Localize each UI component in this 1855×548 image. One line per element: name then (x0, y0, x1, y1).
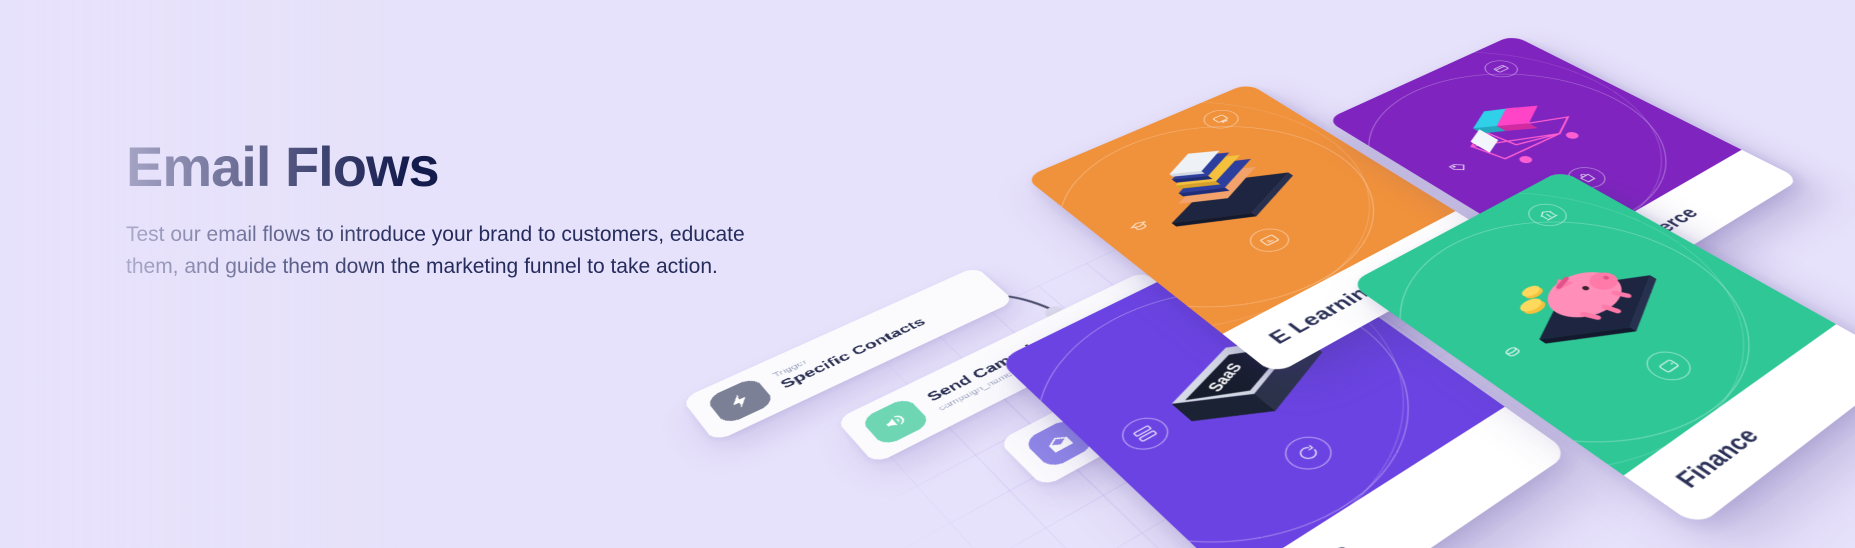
wallet-icon (1638, 346, 1700, 386)
lightning-bolt-icon (705, 377, 776, 426)
card-label: Finance (1669, 424, 1766, 494)
card-footer: Finance (1624, 324, 1855, 527)
hero-copy: Email Flows Test our email flows to intr… (126, 138, 786, 284)
hero-description: Test our email flows to introduce your b… (126, 219, 766, 284)
page-title: Email Flows (126, 138, 786, 197)
hero-banner: Email Flows Test our email flows to intr… (0, 0, 1855, 548)
flow-illustration: Trigger Specific Contacts Send Campaign … (780, 0, 1855, 548)
